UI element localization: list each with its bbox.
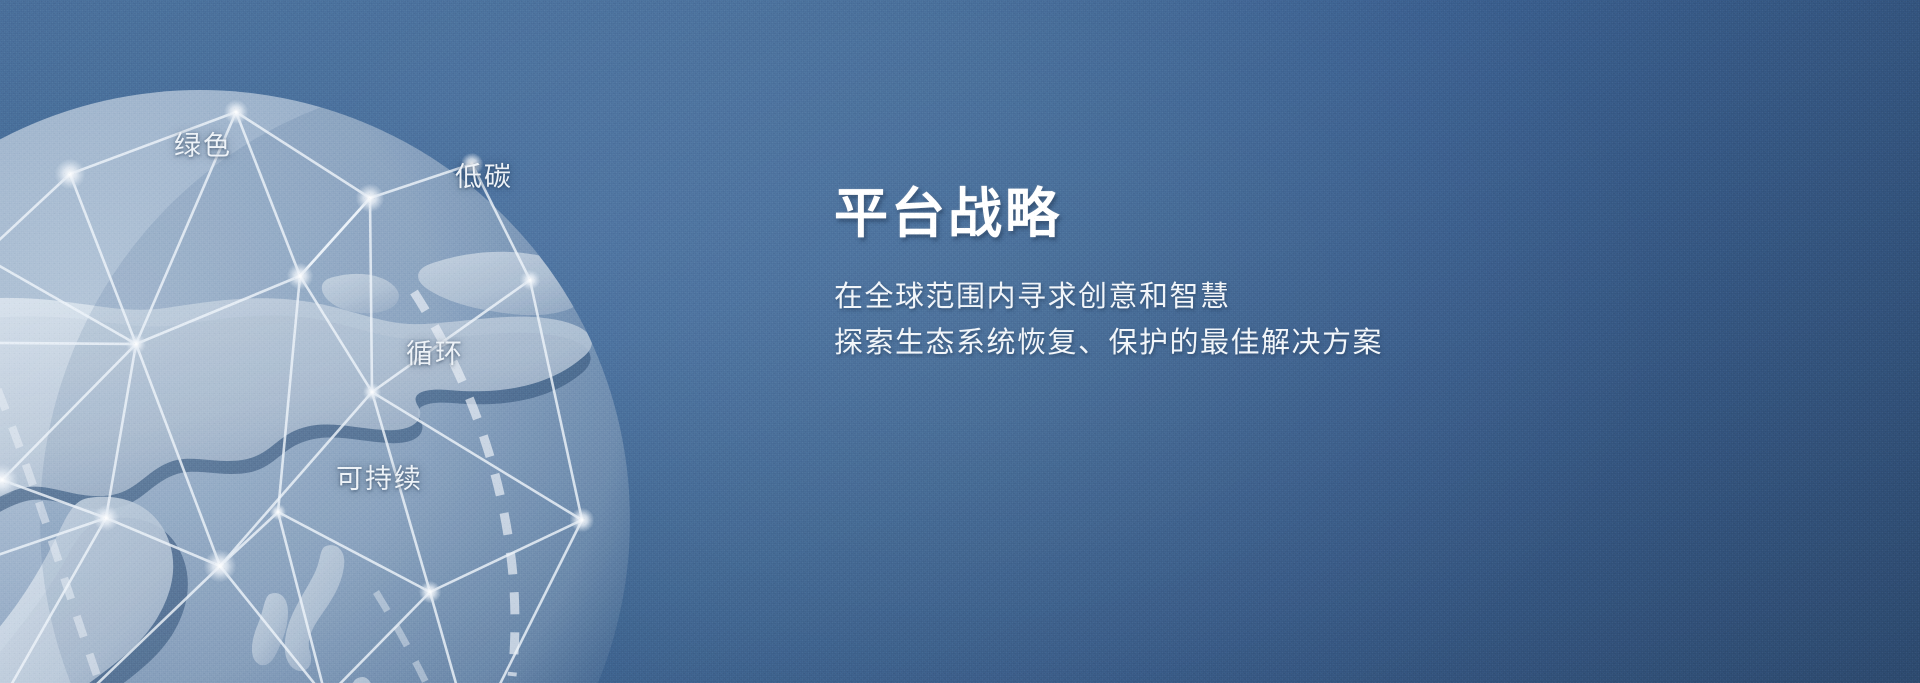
network-label-low-carbon: 低碳 (455, 155, 513, 194)
network-label-sustainable: 可持续 (336, 457, 423, 496)
page-title: 平台战略 (834, 186, 1594, 243)
network-label-green: 绿色 (174, 124, 232, 163)
hero-banner: 绿色 低碳 循环 可持续 平台战略 在全球范围内寻求创意和智慧 探索生态系统恢复… (0, 0, 1920, 683)
network-label-circular: 循环 (406, 332, 464, 371)
subtitle-line-2: 探索生态系统恢复、保护的最佳解决方案 (834, 320, 1594, 366)
subtitle-block: 在全球范围内寻求创意和智慧 探索生态系统恢复、保护的最佳解决方案 (834, 274, 1594, 366)
subtitle-line-1: 在全球范围内寻求创意和智慧 (834, 274, 1594, 320)
banner-copy: 平台战略 在全球范围内寻求创意和智慧 探索生态系统恢复、保护的最佳解决方案 (834, 186, 1594, 366)
